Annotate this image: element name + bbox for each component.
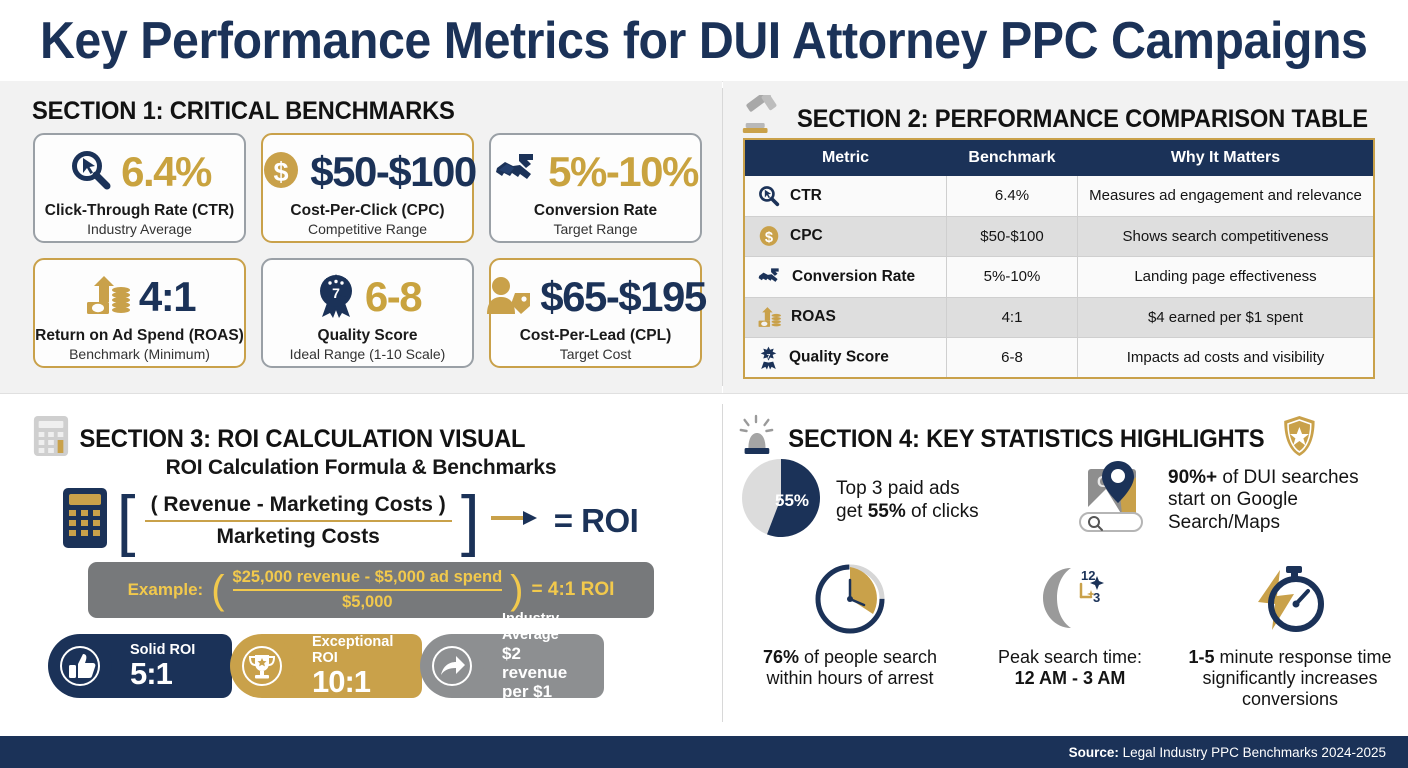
card-sublabel: Target Range: [553, 221, 637, 237]
infographic-page: Key Performance Metrics for DUI Attorney…: [0, 0, 1408, 768]
card-top: $ $50-$100: [259, 144, 476, 200]
stats-row-bottom: 76% of people search within hours of arr…: [740, 562, 1400, 711]
section3-heading-label: SECTION 3: ROI CALCULATION VISUAL: [80, 425, 526, 454]
section2-heading-label: SECTION 2: PERFORMANCE COMPARISON TABLE: [797, 105, 1368, 134]
svg-text:$: $: [765, 230, 773, 246]
stat-line2-pre: get: [836, 501, 868, 522]
badge-value: 10:1: [312, 666, 406, 697]
stat-bold: 76%: [763, 647, 799, 667]
section1-heading-label: SECTION 1: CRITICAL BENCHMARKS: [32, 97, 455, 126]
stat-search-within-hours: 76% of people search within hours of arr…: [740, 562, 960, 711]
stat-line1: Peak search time:: [998, 647, 1142, 667]
card-label: Return on Ad Spend (ROAS): [35, 327, 244, 345]
roi-badge-solid: Solid ROI 5:1: [72, 634, 232, 698]
metric-label: Conversion Rate: [792, 268, 915, 285]
stat-rest: minute response time significantly incre…: [1202, 647, 1391, 709]
table-row: Conversion Rate 5%-10% Landing page effe…: [744, 257, 1374, 298]
roi-badge-exceptional: Exceptional ROI 10:1: [254, 634, 422, 698]
example-paren-open: (: [211, 574, 224, 606]
stat-line2: 12 AM - 3 AM: [1015, 668, 1126, 688]
cell-why: $4 earned per $1 spent: [1078, 297, 1375, 338]
money-growth-icon: [84, 272, 132, 323]
moon-clock-icon: 12 3: [1031, 562, 1109, 641]
stat-bold: 1-5: [1188, 647, 1214, 667]
benchmark-card-row: 4:1 Return on Ad Spend (ROAS) Benchmark …: [33, 258, 702, 368]
card-top: 5%-10%: [493, 144, 698, 200]
section3-subtitle: ROI Calculation Formula & Benchmarks: [0, 456, 722, 480]
roi-badge-group: Solid ROI 5:1 Exceptional ROI 10:1 Indus…: [72, 634, 604, 698]
badge-caption: Exceptional ROI: [312, 635, 406, 667]
example-paren-close: ): [510, 574, 523, 606]
roi-formula: [ ( Revenue - Marketing Costs ) Marketin…: [0, 487, 700, 554]
benchmark-card-quality-score: 7 6-8 Quality Score Ideal Range (1-10 Sc…: [261, 258, 474, 368]
column-header-why: Why It Matters: [1078, 139, 1375, 176]
benchmark-card-cpl: $65-$195 Cost-Per-Lead (CPL) Target Cost: [489, 258, 702, 368]
stopwatch-bolt-icon: [1250, 562, 1330, 641]
formula-numerator: ( Revenue - Marketing Costs ): [145, 493, 452, 520]
award-ribbon-icon: 7: [757, 345, 780, 370]
cell-benchmark: $50-$100: [947, 216, 1078, 257]
metric-label: Quality Score: [789, 349, 889, 366]
svg-text:55%: 55%: [775, 491, 809, 510]
horizontal-divider: [0, 393, 1408, 394]
stat-top-ads-clicks: 55% Top 3 paid ads get 55% of clicks: [740, 457, 1070, 544]
cell-benchmark: 6.4%: [947, 176, 1078, 217]
stat-bold: 90%+: [1168, 467, 1217, 488]
card-sublabel: Ideal Range (1-10 Scale): [290, 346, 446, 362]
metric-label: CPC: [790, 227, 823, 244]
card-label: Quality Score: [318, 327, 418, 345]
dollar-coin-icon: $: [259, 148, 303, 197]
pie-chart-icon: 55%: [740, 457, 822, 544]
stat-text: Top 3 paid ads get 55% of clicks: [836, 478, 979, 522]
card-label: Click-Through Rate (CTR): [45, 202, 234, 220]
stat-peak-search-time: 12 3 Peak search time:12 AM - 3 AM: [960, 562, 1180, 711]
svg-text:3: 3: [1093, 590, 1100, 605]
formula-fraction: ( Revenue - Marketing Costs ) Marketing …: [145, 493, 452, 549]
handshake-icon: [493, 148, 541, 197]
dollar-coin-icon: $: [757, 224, 781, 248]
example-denominator: $5,000: [342, 591, 392, 612]
key-statistics-grid: 55% Top 3 paid ads get 55% of clicks G: [740, 455, 1400, 711]
card-top: 6.4%: [68, 144, 211, 200]
cell-metric: 7 Quality Score: [744, 338, 947, 379]
cell-benchmark: 6-8: [947, 338, 1078, 379]
clock-icon: [813, 562, 887, 641]
vertical-divider-top: [722, 88, 723, 386]
formula-result: = ROI: [554, 502, 639, 540]
card-label: Cost-Per-Click (CPC): [290, 202, 444, 220]
stat-google-searches: G 90%+ of DUI searches start on Google S…: [1070, 455, 1400, 546]
stat-text: 90%+ of DUI searches start on Google Sea…: [1168, 467, 1400, 534]
footer-source: Source: Legal Industry PPC Benchmarks 20…: [1069, 745, 1386, 760]
stat-caption: 1-5 minute response time significantly i…: [1180, 647, 1400, 711]
example-label: Example:: [128, 580, 204, 600]
cell-why: Landing page effectiveness: [1078, 257, 1375, 298]
handshake-icon: [757, 265, 783, 289]
card-sublabel: Competitive Range: [308, 221, 427, 237]
card-label: Cost-Per-Lead (CPL): [520, 327, 672, 345]
card-value: $65-$195: [540, 276, 706, 318]
card-sublabel: Industry Average: [87, 221, 192, 237]
column-header-metric: Metric: [744, 139, 947, 176]
page-footer: Source: Legal Industry PPC Benchmarks 20…: [0, 736, 1408, 768]
performance-comparison-table: Metric Benchmark Why It Matters CTR 6.4%…: [743, 138, 1375, 379]
thumbs-up-icon: [48, 634, 112, 698]
cell-benchmark: 5%-10%: [947, 257, 1078, 298]
roi-badge-industry-average: Industry Average $2 revenue per $1 spent: [444, 634, 604, 698]
cell-metric: $ CPC: [744, 216, 947, 257]
card-value: 5%-10%: [548, 151, 698, 193]
search-cursor-icon: [757, 184, 781, 208]
section2-heading: SECTION 2: PERFORMANCE COMPARISON TABLE: [740, 95, 1368, 144]
table-row: 7 Quality Score 6-8 Impacts ad costs and…: [744, 338, 1374, 379]
metric-label: CTR: [790, 187, 822, 204]
gavel-icon: [740, 95, 788, 144]
google-maps-pin-icon: G: [1070, 455, 1156, 546]
benchmark-card-roas: 4:1 Return on Ad Spend (ROAS) Benchmark …: [33, 258, 246, 368]
benchmark-card-conversion-rate: 5%-10% Conversion Rate Target Range: [489, 133, 702, 243]
svg-text:12: 12: [1081, 568, 1095, 583]
card-top: 4:1: [84, 269, 195, 325]
card-sublabel: Target Cost: [560, 346, 632, 362]
calculator-icon: [62, 487, 108, 554]
column-header-benchmark: Benchmark: [947, 139, 1078, 176]
card-sublabel: Benchmark (Minimum): [69, 346, 210, 362]
bracket-close: ]: [461, 492, 480, 550]
card-value: 4:1: [139, 276, 195, 318]
page-title: Key Performance Metrics for DUI Attorney…: [40, 11, 1368, 71]
badge-value: $2 revenue per $1 spent: [502, 644, 588, 720]
bracket-open: [: [117, 492, 136, 550]
table-header-row: Metric Benchmark Why It Matters: [744, 139, 1374, 176]
benchmark-card-grid: 6.4% Click-Through Rate (CTR) Industry A…: [33, 133, 702, 368]
stat-line1: Top 3 paid ads: [836, 478, 960, 499]
example-fraction: $25,000 revenue - $5,000 ad spend $5,000: [233, 568, 503, 612]
cell-benchmark: 4:1: [947, 297, 1078, 338]
card-label: Conversion Rate: [534, 202, 657, 220]
stat-line2-post: of clicks: [906, 501, 979, 522]
footer-text: Legal Industry PPC Benchmarks 2024-2025: [1119, 745, 1386, 760]
example-numerator: $25,000 revenue - $5,000 ad spend: [233, 568, 503, 589]
table-row: $ CPC $50-$100 Shows search competitiven…: [744, 216, 1374, 257]
stats-row-top: 55% Top 3 paid ads get 55% of clicks G: [740, 455, 1400, 546]
cell-metric: Conversion Rate: [744, 257, 947, 298]
benchmark-card-cpc: $ $50-$100 Cost-Per-Click (CPC) Competit…: [261, 133, 474, 243]
svg-text:7: 7: [332, 285, 340, 301]
cell-why: Measures ad engagement and relevance: [1078, 176, 1375, 217]
card-top: $65-$195: [485, 269, 706, 325]
trophy-icon: [230, 634, 294, 698]
svg-text:$: $: [274, 157, 289, 187]
cell-metric: ROAS: [744, 297, 947, 338]
stat-line2-bold: 55%: [868, 501, 906, 522]
section1-heading: SECTION 1: CRITICAL BENCHMARKS: [32, 97, 455, 126]
card-value: 6-8: [365, 276, 421, 318]
stat-caption: Peak search time:12 AM - 3 AM: [998, 647, 1142, 689]
section4-heading-label: SECTION 4: KEY STATISTICS HIGHLIGHTS: [788, 425, 1264, 454]
footer-label: Source:: [1069, 745, 1119, 760]
cell-why: Shows search competitiveness: [1078, 216, 1375, 257]
table-row: ROAS 4:1 $4 earned per $1 spent: [744, 297, 1374, 338]
table-row: CTR 6.4% Measures ad engagement and rele…: [744, 176, 1374, 217]
card-value: $50-$100: [310, 151, 476, 193]
benchmark-card-row: 6.4% Click-Through Rate (CTR) Industry A…: [33, 133, 702, 243]
arrow-right-icon: [489, 508, 545, 533]
benchmark-card-ctr: 6.4% Click-Through Rate (CTR) Industry A…: [33, 133, 246, 243]
badge-caption: Industry Average: [502, 612, 588, 644]
stat-response-time: 1-5 minute response time significantly i…: [1180, 562, 1400, 711]
page-header: Key Performance Metrics for DUI Attorney…: [0, 0, 1408, 82]
formula-denominator: Marketing Costs: [217, 522, 380, 549]
roi-example-bar: Example: ( $25,000 revenue - $5,000 ad s…: [88, 562, 654, 618]
stat-caption: 76% of people search within hours of arr…: [740, 647, 960, 689]
badge-value: 5:1: [130, 658, 216, 689]
lead-tag-icon: [485, 273, 533, 322]
vertical-divider-bottom: [722, 404, 723, 722]
card-value: 6.4%: [121, 151, 211, 193]
award-ribbon-icon: 7: [314, 271, 358, 324]
cell-why: Impacts ad costs and visibility: [1078, 338, 1375, 379]
search-cursor-icon: [68, 147, 114, 198]
metric-label: ROAS: [791, 308, 836, 325]
svg-text:7: 7: [767, 354, 771, 361]
money-growth-icon: [757, 305, 782, 329]
arrow-forward-icon: [420, 634, 484, 698]
cell-metric: CTR: [744, 176, 947, 217]
card-top: 7 6-8: [314, 269, 421, 325]
example-result: = 4:1 ROI: [532, 579, 615, 601]
